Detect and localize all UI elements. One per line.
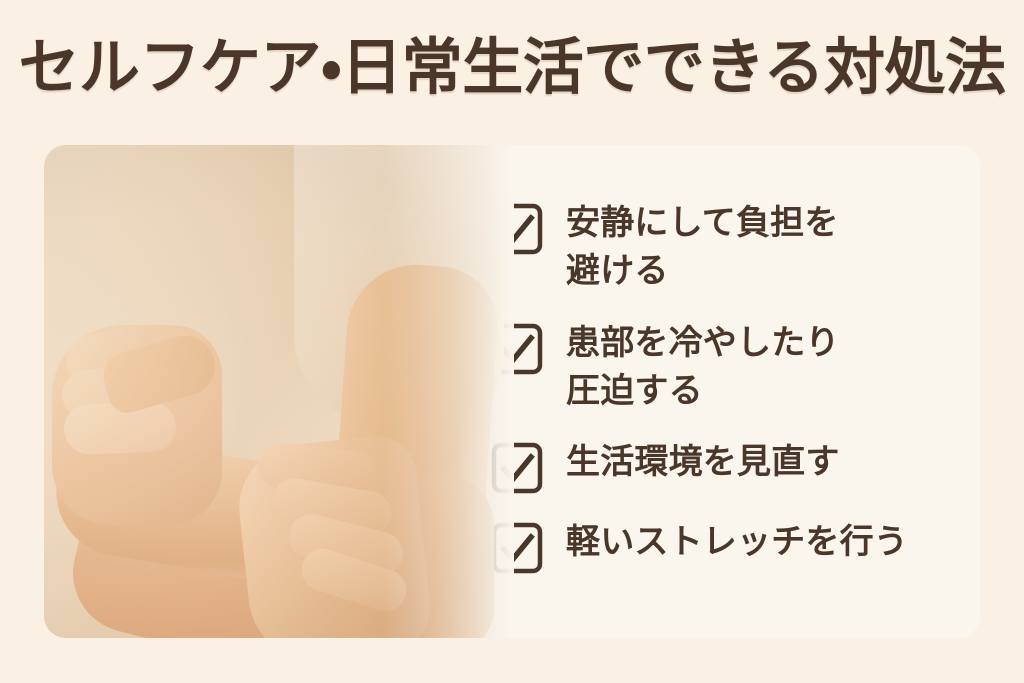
check-square-icon[interactable]: [490, 441, 544, 495]
photo-woman-holding-forearm: [44, 145, 514, 638]
checklist-item-label: 生活環境を見直す: [566, 437, 840, 486]
check-square-icon[interactable]: [490, 521, 544, 575]
checklist-item-label: 患部を冷やしたり 圧迫する: [566, 318, 840, 416]
checklist: 安静にして負担を 避ける 患部を冷やしたり 圧迫する 生活環境を見直す: [490, 198, 960, 575]
checklist-item[interactable]: 生活環境を見直す: [490, 437, 960, 495]
checklist-item-label: 軽いストレッチを行う: [566, 517, 908, 566]
page-title: セルフケア・日常生活でできる対処法: [0, 34, 1024, 102]
checklist-item-label: 安静にして負担を 避ける: [566, 198, 839, 296]
checklist-item[interactable]: 患部を冷やしたり 圧迫する: [490, 318, 960, 416]
content-card: 安静にして負担を 避ける 患部を冷やしたり 圧迫する 生活環境を見直す: [44, 145, 980, 638]
checklist-item[interactable]: 軽いストレッチを行う: [490, 517, 960, 575]
checklist-item[interactable]: 安静にして負担を 避ける: [490, 198, 960, 296]
